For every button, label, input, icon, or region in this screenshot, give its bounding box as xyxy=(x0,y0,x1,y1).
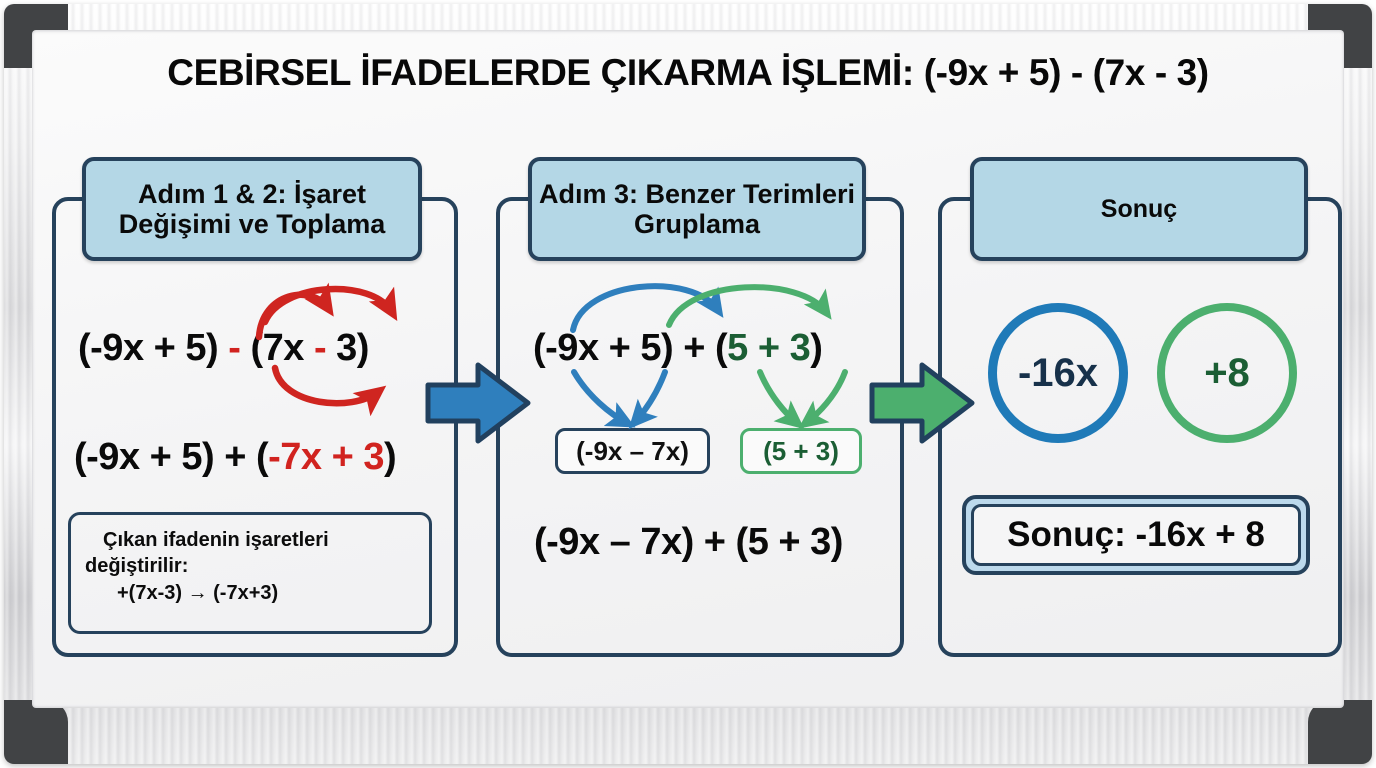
group-box-constant-terms: (5 + 3) xyxy=(740,428,862,474)
final-result-text: Sonuç: -16x + 8 xyxy=(971,504,1301,566)
equation-sign-changed: (-9x + 5) + (-7x + 3) xyxy=(74,436,396,479)
board-corner-bottom-left xyxy=(4,700,68,764)
equation-grouping-source: (-9x + 5) + (5 + 3) xyxy=(533,327,822,370)
grouped-constants-highlight: 5 + 3 xyxy=(727,327,810,369)
note-line-2: değiştirilir: xyxy=(85,553,415,579)
result-circle-constant: +8 xyxy=(1157,303,1297,443)
result-circle-variable: -16x xyxy=(988,303,1128,443)
inner-minus-highlight: - xyxy=(314,327,326,369)
group-box-variable-terms: (-9x – 7x) xyxy=(555,428,710,474)
equation-part-left: (-9x + 5) + ( xyxy=(533,327,727,369)
board-corner-bottom-right xyxy=(1308,700,1372,764)
changed-terms-highlight: -7x + 3 xyxy=(268,436,384,478)
page-title: CEBİRSEL İFADELERDE ÇIKARMA İŞLEMİ: (-9x… xyxy=(32,52,1344,94)
equation-part-left: (-9x + 5) + ( xyxy=(74,436,268,478)
equation-part-right: ) xyxy=(384,436,396,478)
equation-grouped: (-9x – 7x) + (5 + 3) xyxy=(534,521,843,564)
sign-change-note-box: Çıkan ifadenin işaretleri değiştirilir: … xyxy=(68,512,432,634)
panel-header-step-3: Adım 3: Benzer Terimleri Gruplama xyxy=(528,157,866,261)
final-result-box: Sonuç: -16x + 8 xyxy=(962,495,1310,575)
note-line-1: Çıkan ifadenin işaretleri xyxy=(85,527,415,553)
minus-operator-highlight: - xyxy=(228,327,240,369)
equation-part-right: ) xyxy=(810,327,822,369)
note-line-3: +(7x-3) → (-7x+3) xyxy=(85,580,415,606)
panel-header-result: Sonuç xyxy=(970,157,1308,261)
equation-part-right: 3) xyxy=(326,327,369,369)
equation-part-mid: (7x xyxy=(240,327,314,369)
equation-part-left: (-9x + 5) xyxy=(78,327,228,369)
equation-original: (-9x + 5) - (7x - 3) xyxy=(78,327,369,370)
panel-result xyxy=(938,197,1342,657)
panel-header-step-1-2: Adım 1 & 2: İşaret Değişimi ve Toplama xyxy=(82,157,422,261)
panel-step-3 xyxy=(496,197,904,657)
